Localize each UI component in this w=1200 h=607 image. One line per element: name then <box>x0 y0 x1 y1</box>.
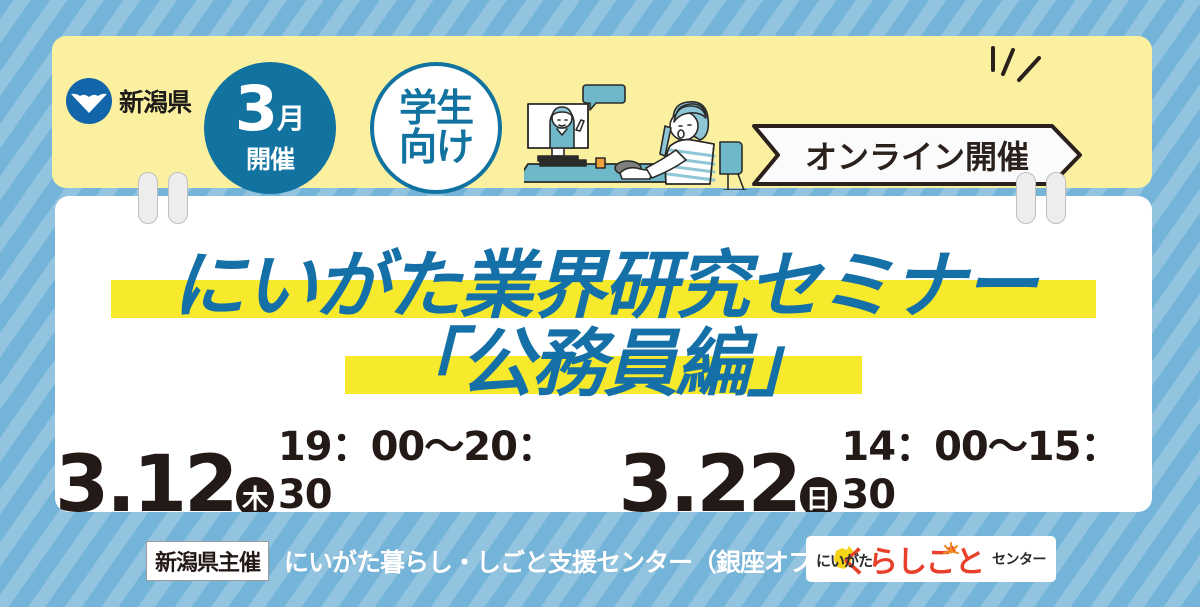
niigata-prefecture-mark-icon <box>66 78 112 124</box>
prefecture-name-label: 新潟県 <box>119 83 191 119</box>
logo-pre-label: にいがた <box>816 550 872 571</box>
date-1-weekday-badge: 木 <box>236 477 273 512</box>
date-entry-2: 3.22 日 14：00〜15：30 <box>619 414 1153 512</box>
logo-niigata-group: にいがた <box>816 545 833 573</box>
sun-sparkle-icon <box>943 542 959 558</box>
title-line-1: にいがた業界研究セミナー <box>55 226 1152 310</box>
date-entry-1: 3.12 木 19：00〜20：30 <box>55 414 589 512</box>
month-unit: 月 <box>277 106 305 138</box>
prefecture-logo-group: 新潟県 <box>66 78 191 124</box>
host-badge: 新潟県主催 <box>146 541 269 581</box>
main-card: にいがた業界研究セミナー 「公務員編」 3.12 木 19：00〜20：30 3… <box>55 196 1152 512</box>
seminar-title-line2: 「公務員編」 <box>388 304 820 411</box>
host-organization-label: にいがた暮らし・しごと支援センター（銀座オフィス） <box>284 543 884 579</box>
clip-right-2 <box>1046 172 1066 224</box>
sparkle-lines-icon <box>985 44 1047 92</box>
wave-shape-icon <box>71 92 107 114</box>
kurashigoto-center-logo: にいがた くらしごと センター <box>806 536 1056 582</box>
online-seminar-illustration <box>524 80 754 190</box>
date-2-time: 14：00〜15：30 <box>841 414 1152 512</box>
date-1-number: 3.12 <box>55 450 235 512</box>
month-badge: 3 月 開催 <box>204 62 336 194</box>
date-2-weekday-badge: 日 <box>800 477 837 512</box>
date-2-number: 3.22 <box>619 450 799 512</box>
date-1-time: 19：00〜20：30 <box>278 414 589 512</box>
month-sub-label: 開催 <box>246 140 294 176</box>
target-audience-badge: 学生 向け <box>370 62 502 194</box>
target-line2: 向け <box>399 128 473 167</box>
target-line1: 学生 <box>399 89 473 128</box>
clip-left-1 <box>138 172 158 224</box>
clip-right-1 <box>1016 172 1036 224</box>
clip-left-2 <box>168 172 188 224</box>
logo-post-label: センター <box>992 549 1046 569</box>
banner-background: 新潟県 3 月 開催 学生 向け <box>0 0 1200 607</box>
date-list: 3.12 木 19：00〜20：30 3.22 日 14：00〜15：30 <box>55 414 1152 512</box>
month-number: 3 <box>235 80 276 137</box>
